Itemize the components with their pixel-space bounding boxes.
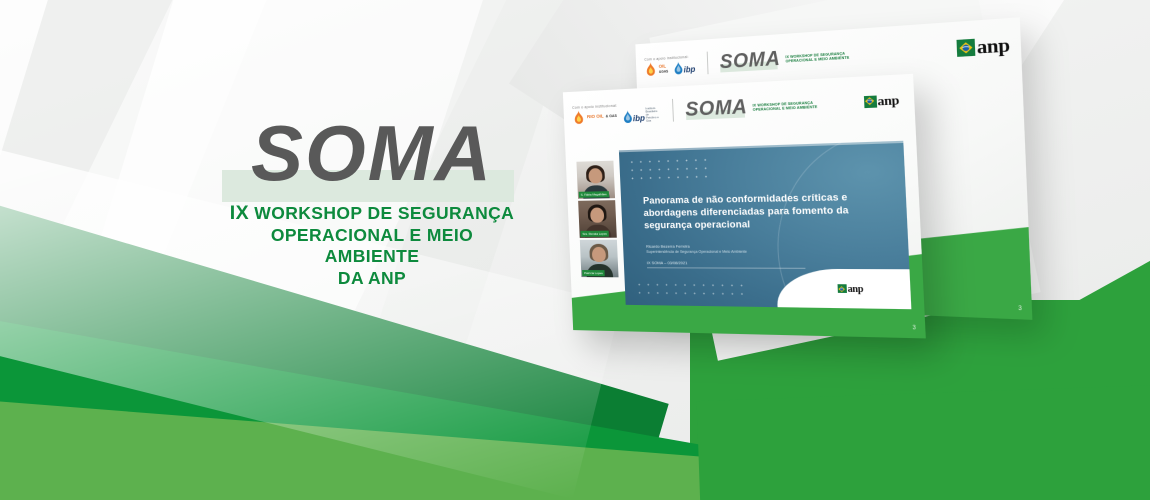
rear-event-mark: SOMA IX WORKSHOP DE SEGURANÇA OPERACIONA… <box>719 45 849 74</box>
front-anp-text: anp <box>877 93 899 107</box>
droplet-icon <box>674 61 683 75</box>
front-window-page-number: 3 <box>912 325 916 332</box>
droplet-icon <box>623 110 633 124</box>
slide-event-code: IX SOMA – 03/08/2021 <box>647 260 851 266</box>
slide-metadata: Ricardo Bezerra Ferreira Superintendênci… <box>646 243 850 269</box>
rear-anp-logo: anp <box>957 35 1010 58</box>
soma-wordmark: SOMA <box>222 112 522 194</box>
slide-footer-anp-logo: anp <box>837 284 863 294</box>
rear-window-page-number: 3 <box>1018 305 1022 312</box>
rear-oil-gas-logo: OIL&GAS <box>644 61 668 77</box>
event-lockup: SOMA IX WORKSHOP DE SEGURANÇA OPERACIONA… <box>222 112 522 289</box>
anp-flag-icon <box>863 95 876 108</box>
rear-header-divider <box>707 52 709 75</box>
participant-thumbnail-strip: S. Fábia Magalhães Sra. Renata Lopes Pat… <box>576 161 618 278</box>
participant-face <box>590 207 604 222</box>
rear-event-mark-sub: IX WORKSHOP DE SEGURANÇA OPERACIONAL E M… <box>785 51 849 64</box>
slide-rule <box>647 267 805 269</box>
flame-icon <box>572 110 585 126</box>
event-subtitle-line3: DA ANP <box>338 268 406 288</box>
rear-soma-mark: SOMA <box>719 49 780 74</box>
rear-ibp-text: ibp <box>684 66 696 75</box>
anp-flag-icon <box>837 284 846 293</box>
slide-role: Superintendência de Segurança Operaciona… <box>646 249 849 255</box>
video-call-area: S. Fábia Magalhães Sra. Renata Lopes Pat… <box>576 141 911 309</box>
slide-footer-anp-text: anp <box>847 284 863 294</box>
event-subtitle-line2: OPERACIONAL E MEIO AMBIENTE <box>271 225 473 267</box>
ibp-logo: ibp Instituto Brasileiro de Petróleo e G… <box>622 107 660 124</box>
header-divider <box>671 99 673 122</box>
flame-icon <box>644 62 657 78</box>
event-subtitle-roman: IX <box>230 202 249 224</box>
slide-dot-grid-top <box>627 156 708 183</box>
front-event-mark: SOMA IX WORKSHOP DE SEGURANÇA OPERACIONA… <box>685 94 818 121</box>
ibp-text: ibp <box>633 115 645 124</box>
event-subtitle: IX WORKSHOP DE SEGURANÇA OPERACIONAL E M… <box>222 203 522 289</box>
oil-gas-line1: RIO OIL <box>587 115 604 120</box>
participant-thumbnail[interactable]: Sra. Renata Lopes <box>578 200 617 238</box>
oil-gas-logo: RIO OIL & GAS <box>572 109 617 126</box>
participant-thumbnail[interactable]: Patrícia Lopes <box>580 240 619 278</box>
ibp-tagline: Instituto Brasileiro de Petróleo e Gás <box>645 107 660 123</box>
event-subtitle-line1: WORKSHOP DE SEGURANÇA <box>254 203 514 223</box>
participant-face <box>592 247 606 262</box>
participant-thumbnail[interactable]: S. Fábia Magalhães <box>576 161 615 199</box>
participant-name-label: S. Fábia Magalhães <box>579 191 609 198</box>
participant-name-label: Sra. Renata Lopes <box>580 231 609 237</box>
front-anp-logo: anp <box>863 93 899 108</box>
slide-title: Panorama de não conformidades críticas e… <box>643 190 871 232</box>
oil-gas-line2: & GAS <box>606 114 617 119</box>
participant-name-label: Patrícia Lopes <box>582 270 605 276</box>
presentation-window-front[interactable]: Com o apoio institucional: RIO OIL & GAS… <box>563 74 926 339</box>
rear-oil-gas-text: OIL&GAS <box>659 64 669 74</box>
anp-flag-icon <box>957 38 976 56</box>
front-soma-mark: SOMA <box>685 97 748 121</box>
banner-stage: SOMA IX WORKSHOP DE SEGURANÇA OPERACIONA… <box>0 0 1150 500</box>
rear-ibp-logo: ibp <box>674 61 696 75</box>
participant-face <box>588 168 602 183</box>
background-green-bottom-right <box>697 383 1150 500</box>
shared-slide[interactable]: Panorama de não conformidades críticas e… <box>619 141 912 309</box>
slide-dot-grid-bottom <box>635 280 744 298</box>
front-event-mark-sub: IX WORKSHOP DE SEGURANÇA OPERACIONAL E M… <box>752 100 817 112</box>
rear-anp-text: anp <box>976 35 1010 56</box>
